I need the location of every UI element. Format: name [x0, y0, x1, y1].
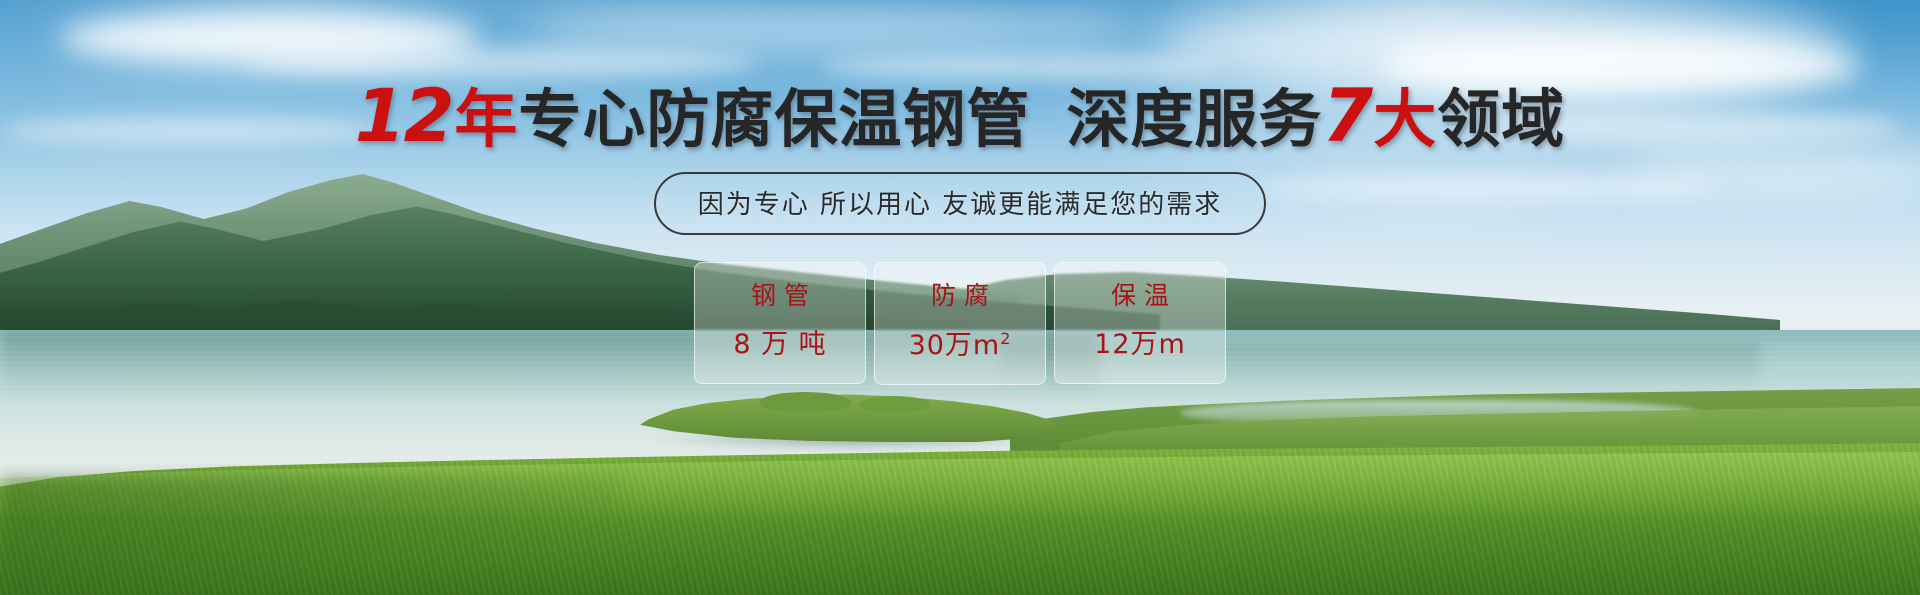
headline-fields-da: 大 [1373, 83, 1437, 156]
stat-card-value-text: 30万m [909, 330, 1001, 361]
stat-card-steel-pipe[interactable]: 钢管 8 万 吨 [694, 262, 866, 384]
headline-fields-text: 领域 [1437, 83, 1565, 156]
headline-years-unit: 年 [454, 83, 518, 156]
subtitle-container: 因为专心 所以用心 友诚更能满足您的需求 [0, 172, 1920, 235]
stat-card-insulation[interactable]: 保温 12万m [1054, 262, 1226, 384]
headline: 12年专心防腐保温钢管深度服务7大领域 [0, 80, 1920, 153]
stat-card-label: 保温 [1055, 277, 1225, 315]
hero-banner: 12年专心防腐保温钢管深度服务7大领域 因为专心 所以用心 友诚更能满足您的需求… [0, 0, 1920, 595]
stat-card-anticorrosion[interactable]: 防腐 30万m2 [874, 262, 1046, 385]
stat-card-value: 8 万 吨 [695, 329, 865, 361]
stat-card-value-superscript: 2 [1000, 329, 1011, 348]
stat-card-value: 12万m [1055, 329, 1225, 361]
subtitle-pill: 因为专心 所以用心 友诚更能满足您的需求 [654, 172, 1267, 235]
stat-card-label: 钢管 [695, 277, 865, 315]
stat-card-value-text: 12万m [1094, 329, 1186, 360]
stat-card-value-text: 8 万 吨 [733, 329, 826, 360]
banner-content: 12年专心防腐保温钢管深度服务7大领域 因为专心 所以用心 友诚更能满足您的需求… [0, 0, 1920, 595]
stat-card-label: 防腐 [875, 277, 1045, 315]
stat-card-value: 30万m2 [875, 329, 1045, 362]
headline-main-text: 专心防腐保温钢管 [518, 83, 1030, 156]
stat-cards: 钢管 8 万 吨 防腐 30万m2 保温 12万m [0, 262, 1920, 385]
headline-years-number: 12 [355, 74, 455, 159]
headline-fields-number: 7 [1322, 74, 1373, 159]
headline-service-text: 深度服务 [1066, 83, 1322, 156]
